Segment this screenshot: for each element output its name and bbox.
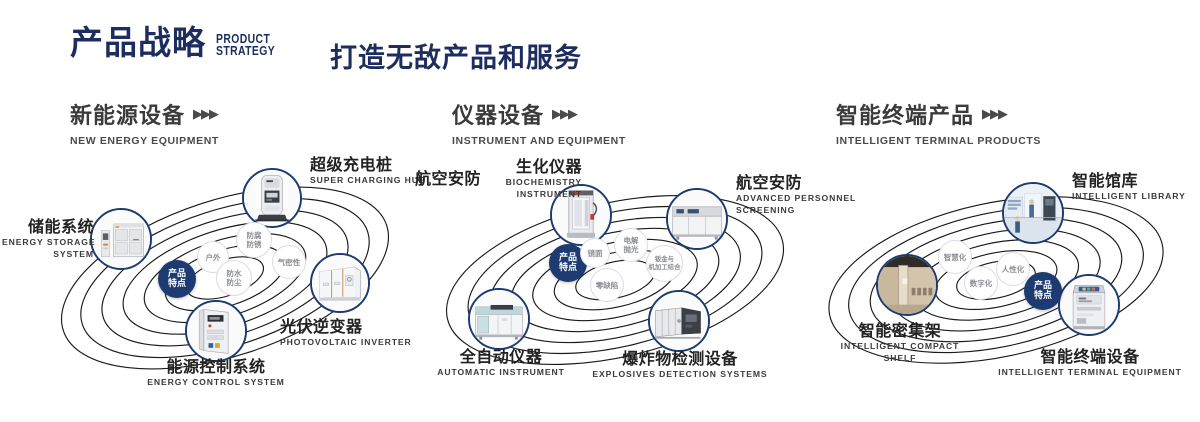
- feature-bubble-sheetmetal-machining: 钣金与 机加工结合: [646, 245, 683, 282]
- section-title-cn: 新能源设备: [70, 98, 185, 130]
- feature-line2: 防尘: [227, 278, 242, 287]
- core-line1: 产品: [1034, 281, 1052, 291]
- label-cn: 全自动仪器: [402, 348, 600, 366]
- charging-hub-icon: [244, 170, 300, 226]
- feature-text: 气密性: [278, 258, 301, 267]
- energy-storage-icon: [92, 210, 150, 268]
- feature-line1: 防水: [227, 269, 242, 278]
- feature-bubble-mirror: 镜面: [580, 238, 610, 268]
- core-line2: 特点: [1034, 291, 1052, 301]
- label-en-line1: INTELLIGENT TERMINAL EQUIPMENT: [982, 367, 1198, 378]
- page-header: 产品战略 PRODUCT STRATEGY: [70, 26, 290, 59]
- label-intelligent-library: 智能馆库 INTELLIGENT LIBRARY: [1072, 172, 1186, 202]
- feature-line2: 防锈: [247, 240, 262, 249]
- label-en-line1: PHOTOVOLTAIC INVERTER: [280, 337, 412, 348]
- section-title-cn: 仪器设备: [452, 98, 544, 130]
- label-en-line1: AUTOMATIC INSTRUMENT: [402, 367, 600, 378]
- chevrons-icon: ▶▶▶: [552, 106, 576, 122]
- label-en-line1: INTELLIGENT COMPACT: [790, 341, 1010, 352]
- feature-line2: 抛光: [624, 245, 639, 254]
- label-cn: 智能终端设备: [982, 348, 1198, 366]
- feature-text: 人性化: [1002, 265, 1025, 274]
- core-line1: 产品: [168, 269, 186, 279]
- intelligent-library-icon: [1004, 184, 1062, 242]
- label-terminal-equipment: 智能终端设备 INTELLIGENT TERMINAL EQUIPMENT: [982, 348, 1198, 378]
- section-title-new-energy: 新能源设备▶▶▶ NEW ENERGY EQUIPMENT: [70, 98, 219, 147]
- label-cn: 储能系统: [2, 218, 94, 236]
- core-line2: 特点: [559, 263, 577, 273]
- core-bubble-product-features[interactable]: 产品 特点: [1024, 272, 1062, 310]
- automatic-instrument-icon: [470, 290, 528, 348]
- label-cn: 智能馆库: [1072, 172, 1186, 190]
- node-explosives-detection[interactable]: [648, 290, 710, 352]
- compact-shelf-icon: [878, 256, 936, 314]
- feature-text: 户外: [206, 253, 221, 262]
- label-en-line1: EXPLOSIVES DETECTION SYSTEMS: [578, 369, 782, 380]
- label-en-line2: INSTRUMENT: [440, 189, 582, 200]
- label-en-line1: BIOCHEMISTRY: [440, 177, 582, 188]
- page-slogan: 打造无敌产品和服务: [330, 36, 582, 75]
- label-en-line1: SUPER CHARGING HUB: [310, 175, 426, 186]
- chevrons-icon: ▶▶▶: [982, 106, 1006, 122]
- node-compact-shelf[interactable]: [876, 254, 938, 316]
- feature-text: 零缺陷: [596, 281, 619, 290]
- core-line2: 特点: [168, 279, 186, 289]
- label-en-line2: SHELF: [790, 353, 1010, 364]
- feature-bubble-zero-defect: 零缺陷: [590, 268, 624, 302]
- core-line1: 产品: [559, 253, 577, 263]
- product-strategy-infographic: 产品战略 PRODUCT STRATEGY 打造无敌产品和服务 新能源设备▶▶▶…: [0, 0, 1200, 422]
- core-bubble-product-features[interactable]: 产品 特点: [158, 260, 196, 298]
- section-title-en: NEW ENERGY EQUIPMENT: [70, 135, 219, 147]
- node-screening[interactable]: [666, 188, 728, 250]
- node-automatic-instrument[interactable]: [468, 288, 530, 350]
- node-terminal-equipment[interactable]: [1058, 274, 1120, 336]
- section-title-instrument: 仪器设备▶▶▶ INSTRUMENT AND EQUIPMENT: [452, 98, 626, 147]
- label-compact-shelf: 智能密集架 INTELLIGENT COMPACT SHELF: [790, 322, 1010, 363]
- cluster-instrument: 航空安防 生化仪器 BIOCHEMISTRY INSTRUMENT 航空安防: [420, 150, 810, 400]
- label-cn: 生化仪器: [440, 158, 582, 176]
- label-energy-control: 能源控制系统 ENERGY CONTROL SYSTEM: [88, 358, 344, 388]
- chevrons-icon: ▶▶▶: [193, 106, 217, 122]
- feature-bubble-smart: 智慧化: [938, 240, 972, 274]
- page-title-en: PRODUCT STRATEGY: [216, 33, 275, 57]
- label-cn: 智能密集架: [790, 322, 1010, 340]
- node-intelligent-library[interactable]: [1002, 182, 1064, 244]
- node-energy-storage[interactable]: [90, 208, 152, 270]
- feature-line2: 机加工结合: [649, 264, 681, 272]
- explosives-detection-icon: [650, 292, 708, 350]
- page-title-en-line2: STRATEGY: [216, 45, 275, 57]
- section-title-intelligent-terminal: 智能终端产品▶▶▶ INTELLIGENT TERMINAL PRODUCTS: [836, 98, 1041, 147]
- label-en-line1: ENERGY STORAGE: [2, 237, 94, 248]
- node-energy-control[interactable]: [185, 300, 247, 362]
- feature-bubble-waterproof: 防水 防尘: [216, 260, 252, 296]
- feature-bubble-electropolishing: 电解 抛光: [614, 228, 648, 262]
- label-cn: 光伏逆变器: [280, 318, 412, 336]
- feature-bubble-digital: 数字化: [964, 266, 998, 300]
- label-cn: 能源控制系统: [88, 358, 344, 376]
- feature-text: 智慧化: [944, 253, 967, 262]
- feature-bubble-anticorrosion: 防腐 防锈: [236, 222, 272, 258]
- section-title-en: INSTRUMENT AND EQUIPMENT: [452, 135, 626, 147]
- feature-line1: 电解: [624, 236, 639, 245]
- label-cn: 爆炸物检测设备: [578, 350, 782, 368]
- section-title-en: INTELLIGENT TERMINAL PRODUCTS: [836, 135, 1041, 147]
- feature-bubble-airtight: 气密性: [272, 245, 306, 279]
- label-en-line1: INTELLIGENT LIBRARY: [1072, 191, 1186, 202]
- label-explosives-detection: 爆炸物检测设备 EXPLOSIVES DETECTION SYSTEMS: [578, 350, 782, 380]
- label-charging-hub: 超级充电桩 SUPER CHARGING HUB: [310, 156, 426, 186]
- label-en-line2: SYSTEM: [2, 249, 94, 260]
- label-cn: 超级充电桩: [310, 156, 426, 174]
- feature-bubble-humanized: 人性化: [996, 252, 1030, 286]
- energy-control-icon: [187, 302, 245, 360]
- feature-text: 镜面: [588, 249, 603, 258]
- label-pv-inverter: 光伏逆变器 PHOTOVOLTAIC INVERTER: [280, 318, 412, 348]
- label-en-line1: ENERGY CONTROL SYSTEM: [88, 377, 344, 388]
- label-biochem-instrument: 生化仪器 BIOCHEMISTRY INSTRUMENT: [440, 158, 582, 199]
- screening-icon: [668, 190, 726, 248]
- node-pv-inverter[interactable]: [310, 253, 370, 313]
- terminal-equipment-icon: [1060, 276, 1118, 334]
- feature-text: 数字化: [970, 279, 993, 288]
- cluster-intelligent-terminal: 智能馆库 INTELLIGENT LIBRARY 智能密集架: [806, 150, 1196, 400]
- feature-line1: 防腐: [247, 231, 262, 240]
- cluster-new-energy: 储能系统 ENERGY STORAGE SYSTEM 超级充电桩 SUPER C…: [40, 150, 420, 400]
- node-charging-hub[interactable]: [242, 168, 302, 228]
- label-automatic-instrument: 全自动仪器 AUTOMATIC INSTRUMENT: [402, 348, 600, 378]
- section-title-cn: 智能终端产品: [836, 98, 974, 130]
- pv-inverter-icon: [312, 255, 368, 311]
- label-energy-storage: 储能系统 ENERGY STORAGE SYSTEM: [2, 218, 94, 259]
- page-title: 产品战略: [70, 26, 206, 59]
